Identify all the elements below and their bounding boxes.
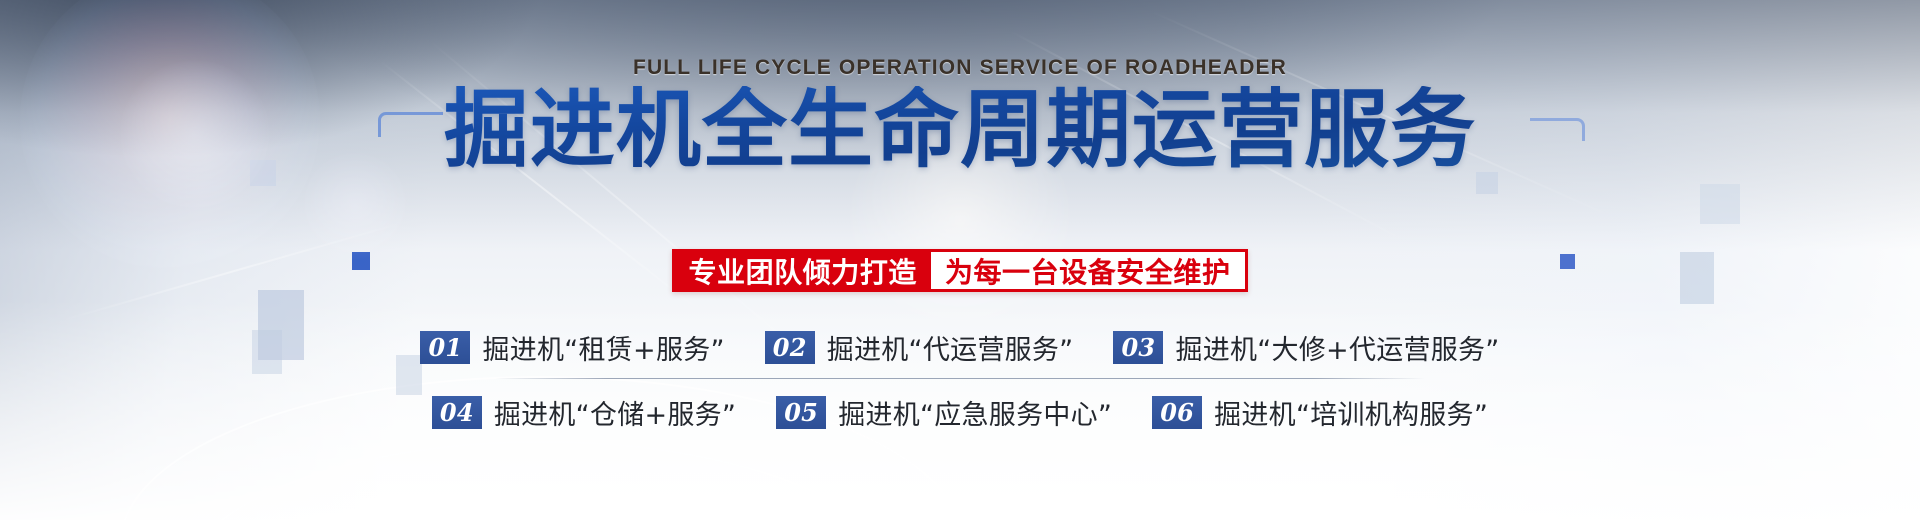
service-number-badge: 01 [420, 331, 470, 364]
service-item-label: 掘进机“代运营服务” [827, 328, 1074, 367]
service-item-label: 掘进机“大修+代运营服务” [1175, 328, 1499, 367]
service-row-top: 01 掘进机“租赁+服务” 02 掘进机“代运营服务” 03 掘进机“大修+代运… [420, 318, 1499, 376]
service-item-label: 掘进机“租赁+服务” [482, 328, 724, 367]
slogan-ribbon-right: 为每一台设备安全维护 [931, 249, 1248, 292]
service-number-badge: 05 [776, 396, 826, 429]
service-item-03[interactable]: 03 掘进机“大修+代运营服务” [1113, 328, 1499, 367]
service-item-label: 掘进机“应急服务中心” [838, 393, 1112, 432]
service-item-label: 掘进机“仓储+服务” [494, 393, 736, 432]
service-list: 01 掘进机“租赁+服务” 02 掘进机“代运营服务” 03 掘进机“大修+代运… [420, 318, 1499, 441]
service-number-badge: 06 [1152, 396, 1202, 429]
page-title: 掘进机全生命周期运营服务 [444, 86, 1476, 176]
slogan-ribbon-left: 专业团队倾力打造 [672, 249, 930, 292]
service-number-badge: 04 [432, 396, 482, 429]
service-number-badge: 02 [765, 331, 815, 364]
service-number-badge: 03 [1113, 331, 1163, 364]
slogan-ribbon: 专业团队倾力打造 为每一台设备安全维护 [672, 249, 1247, 292]
service-row-bottom: 04 掘进机“仓储+服务” 05 掘进机“应急服务中心” 06 掘进机“培训机构… [432, 383, 1488, 441]
banner-content: FULL LIFE CYCLE OPERATION SERVICE OF ROA… [0, 0, 1920, 520]
roadheader-service-banner: FULL LIFE CYCLE OPERATION SERVICE OF ROA… [0, 0, 1920, 520]
service-item-05[interactable]: 05 掘进机“应急服务中心” [776, 393, 1112, 432]
service-item-01[interactable]: 01 掘进机“租赁+服务” [420, 328, 724, 367]
service-item-06[interactable]: 06 掘进机“培训机构服务” [1152, 393, 1488, 432]
service-item-label: 掘进机“培训机构服务” [1214, 393, 1488, 432]
service-list-divider [495, 378, 1425, 379]
english-subtitle: FULL LIFE CYCLE OPERATION SERVICE OF ROA… [633, 56, 1287, 80]
service-item-02[interactable]: 02 掘进机“代运营服务” [765, 328, 1074, 367]
service-item-04[interactable]: 04 掘进机“仓储+服务” [432, 393, 736, 432]
